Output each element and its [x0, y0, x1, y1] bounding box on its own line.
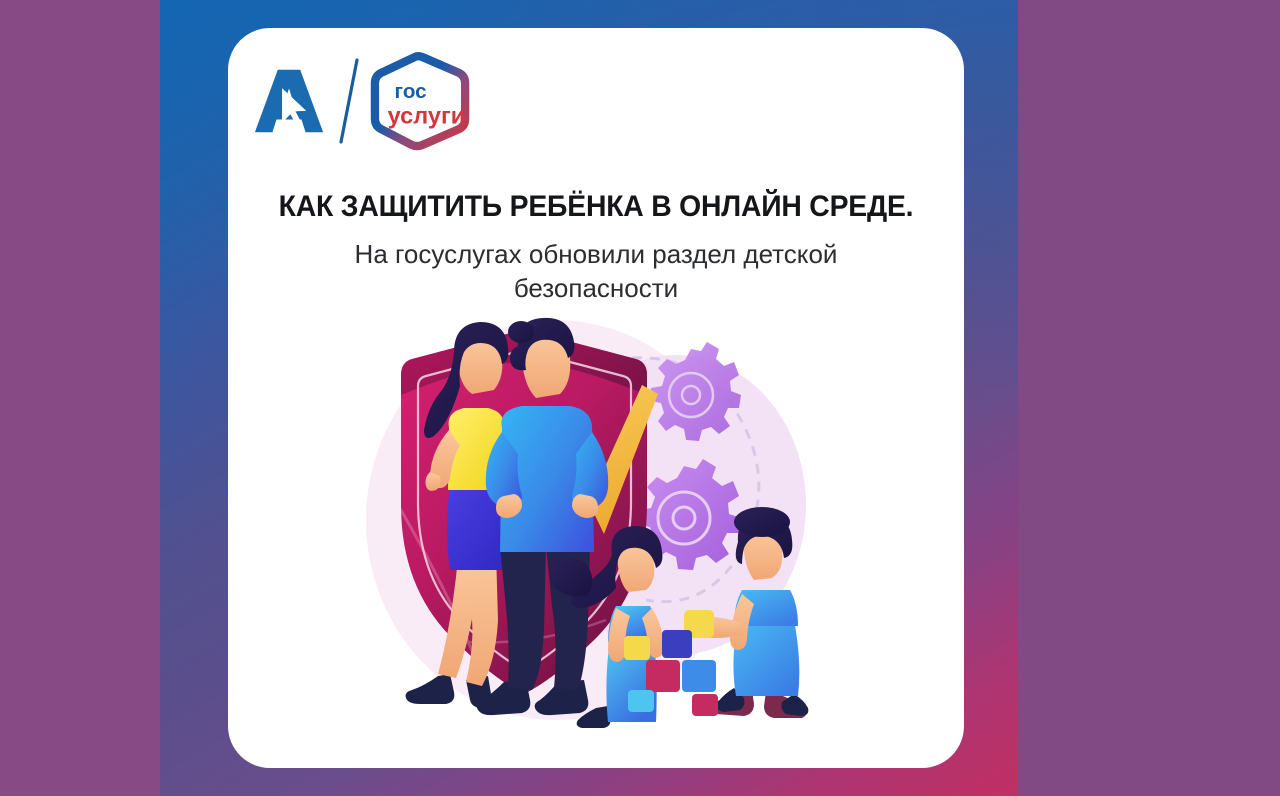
block-sky [628, 690, 654, 712]
background-right-panel [1018, 0, 1280, 796]
gosuslugi-line2: услуги [388, 103, 466, 129]
letter-a-logo-icon [250, 62, 328, 140]
block-yellow [624, 636, 650, 660]
block-crimson-small [692, 694, 718, 716]
poster-canvas: гос услуги КАК ЗАЩИТИТЬ РЕБЁНКА В ОНЛАЙН… [0, 0, 1280, 796]
page-title: КАК ЗАЩИТИТЬ РЕБЁНКА В ОНЛАЙН СРЕДЕ. [243, 190, 950, 224]
content-card: гос услуги КАК ЗАЩИТИТЬ РЕБЁНКА В ОНЛАЙН… [228, 28, 964, 768]
gosuslugi-line1: гос [395, 80, 427, 103]
background-left-panel [0, 0, 162, 796]
illustration [346, 290, 866, 742]
block-indigo [662, 630, 692, 658]
slash-separator-icon [336, 55, 362, 147]
block-blue [682, 660, 716, 692]
gosuslugi-logo-icon: гос услуги [368, 51, 476, 151]
block-crimson [646, 660, 680, 692]
logo-row: гос услуги [250, 46, 476, 156]
